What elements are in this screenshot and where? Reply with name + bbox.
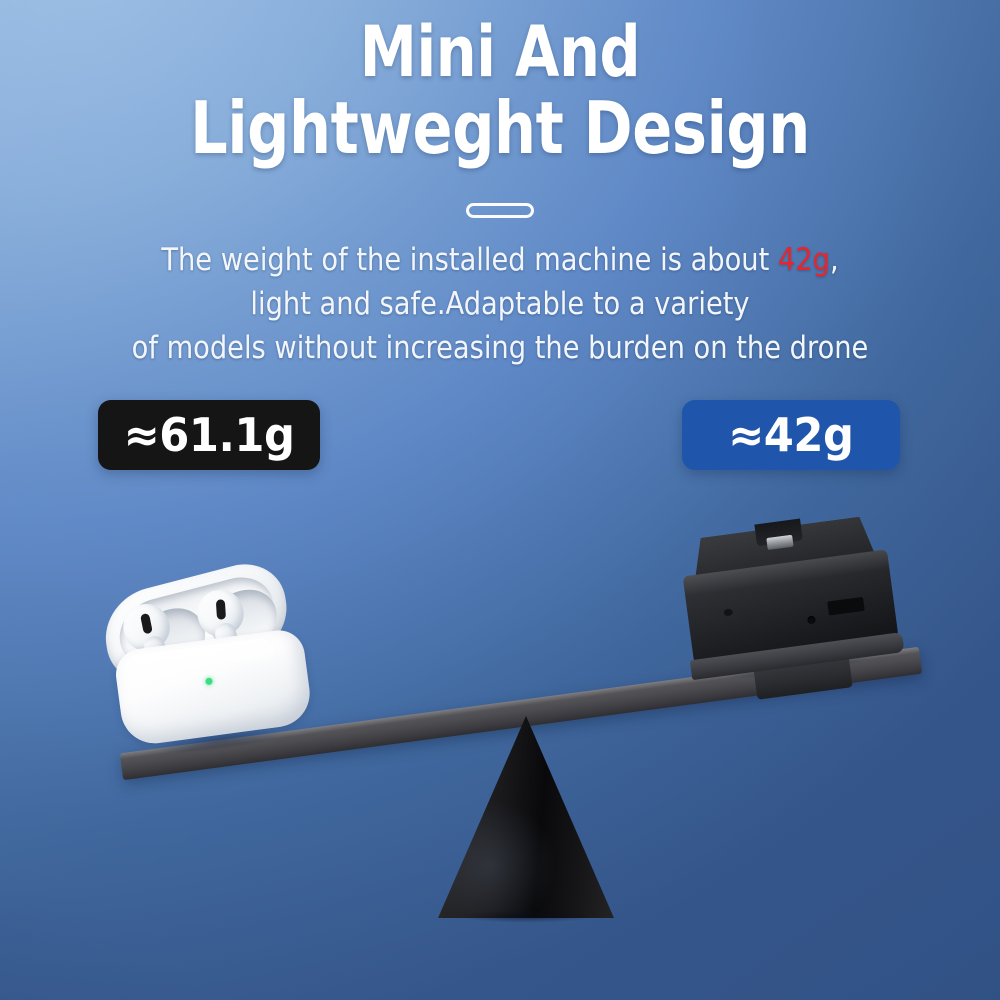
description-text: The weight of the installed machine is a… xyxy=(60,238,940,370)
cone-base-shadow xyxy=(434,911,618,925)
description-line-1: The weight of the installed machine is a… xyxy=(60,238,940,282)
description-line-1-suffix: , xyxy=(830,242,839,278)
earbud-right-mesh xyxy=(216,599,226,620)
page-title: Mini And Lightweght Design xyxy=(90,14,910,166)
description-line-3: of models without increasing the burden … xyxy=(60,326,940,370)
divider-pill xyxy=(466,203,534,218)
weight-badge-device: ≈42g xyxy=(682,400,900,470)
weight-accent-value: 42g xyxy=(778,242,830,278)
drone-module-vent-slot xyxy=(827,597,865,616)
fulcrum-cone xyxy=(438,716,614,918)
status-led-icon xyxy=(205,677,213,685)
product-feature-poster: Mini And Lightweght Design The weight of… xyxy=(0,0,1000,1000)
drone-module-port-hole xyxy=(807,615,816,624)
description-line-1-prefix: The weight of the installed machine is a… xyxy=(161,242,778,278)
drone-module xyxy=(671,507,907,685)
headline-line-2: Lightweght Design xyxy=(90,90,910,166)
cone-highlight xyxy=(438,716,614,918)
headline-line-1: Mini And xyxy=(90,14,910,90)
drone-module-screw xyxy=(723,608,733,616)
weight-badge-device-label: ≈42g xyxy=(728,408,853,462)
description-line-2: light and safe.Adaptable to a variety xyxy=(60,282,940,326)
weight-badge-airpods: ≈61.1g xyxy=(98,400,320,470)
airpods-case xyxy=(89,552,326,759)
weight-badge-airpods-label: ≈61.1g xyxy=(123,408,294,462)
